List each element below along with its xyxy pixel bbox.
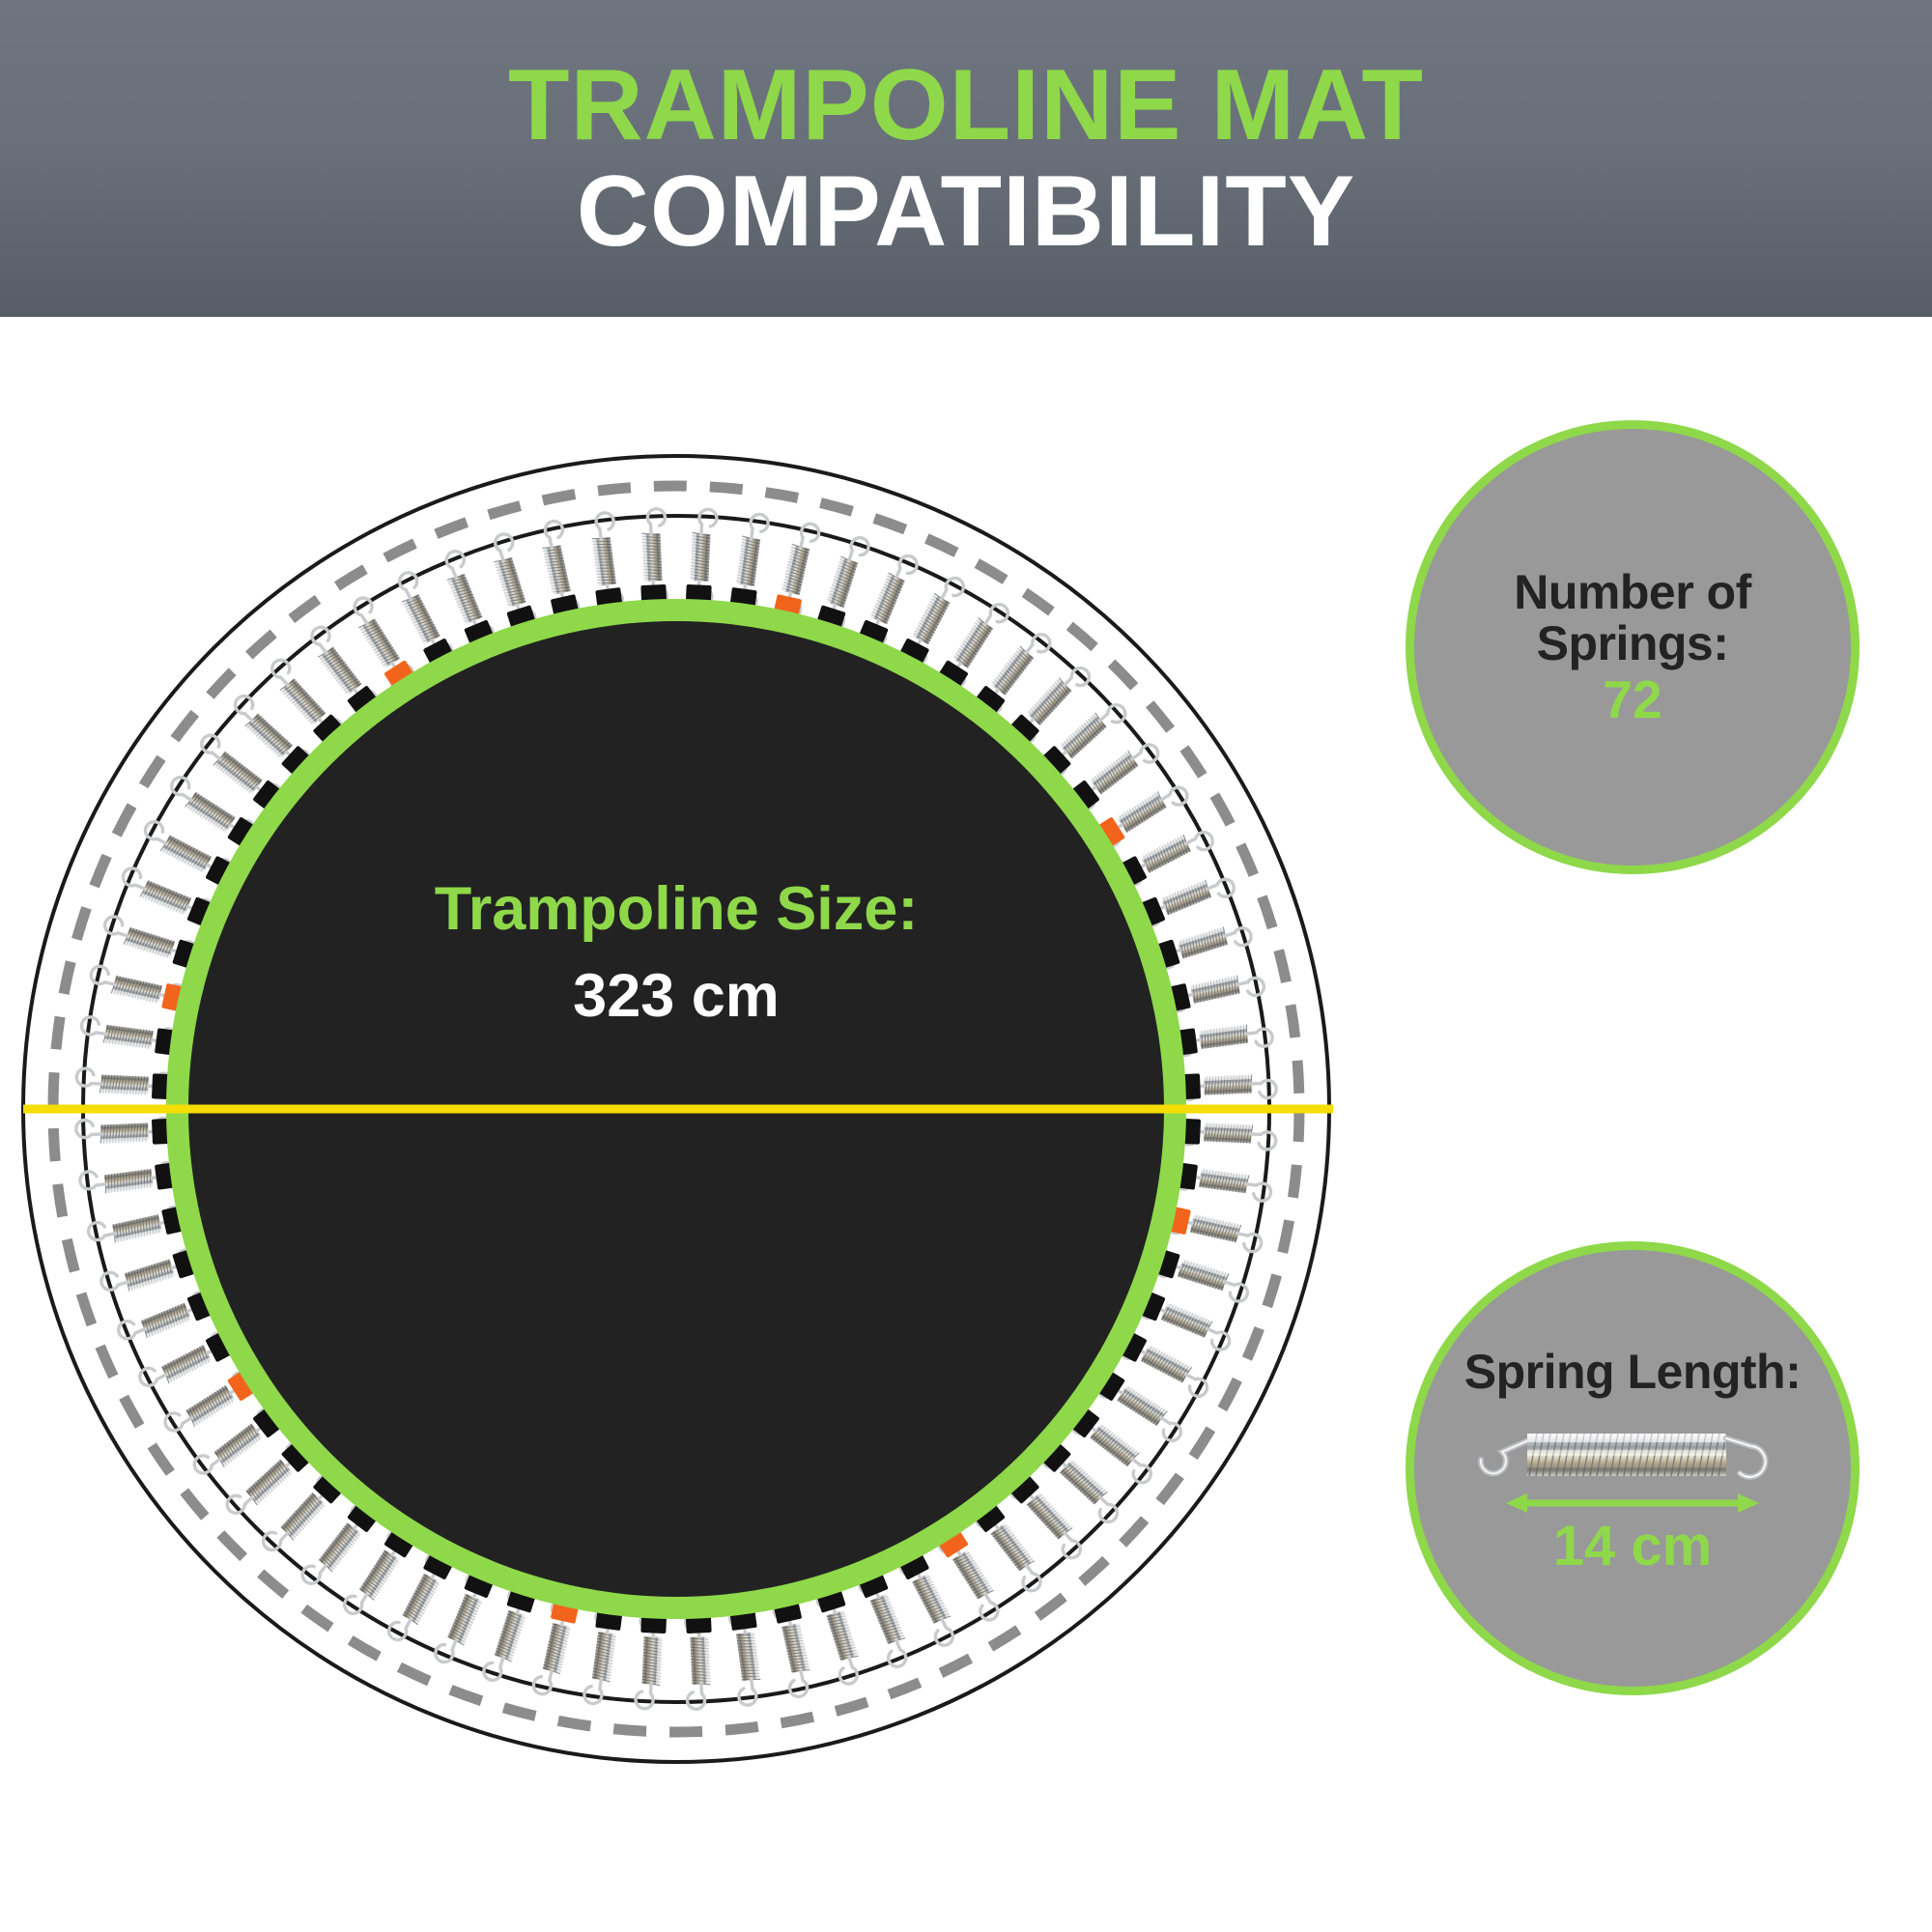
spring-hook-outer <box>1237 977 1265 999</box>
spring-coil-body <box>952 618 993 668</box>
spring-hook-outer <box>1251 1131 1276 1150</box>
mat-size-value: 323 cm <box>573 962 780 1030</box>
spring-photo-icon <box>1473 1417 1792 1492</box>
spring-hook-outer <box>1225 925 1254 950</box>
page-title-line1: TRAMPOLINE MAT <box>508 52 1424 158</box>
info-circle-number-of-springs: Number of Springs: 72 <box>1406 420 1860 874</box>
mat-size-label: Trampoline Size: <box>435 875 919 943</box>
spring-hook-outer <box>544 520 566 548</box>
spring-coil-body <box>213 1423 262 1466</box>
spring-hook-outer <box>493 532 517 561</box>
spring-hook-outer <box>786 1670 809 1698</box>
spring-hook-outer <box>647 508 666 533</box>
trampoline-svg: Trampoline Size: 323 cm <box>0 319 1372 1903</box>
page-title-line2: COMPATIBILITY <box>577 158 1355 265</box>
spring-coil-body <box>1117 1385 1167 1426</box>
spring-hook-outer <box>1245 1181 1272 1202</box>
spring-hook-outer <box>99 1268 128 1293</box>
spring-hook-outer <box>636 1684 654 1709</box>
spring-hook-outer <box>80 1016 107 1037</box>
spring-coil-body <box>319 646 362 695</box>
circle-title-springs-line1: Number of <box>1514 567 1751 619</box>
spring-hook-outer <box>482 1654 506 1683</box>
spring-hook-outer <box>836 1658 860 1687</box>
circle-value-springs: 72 <box>1603 672 1662 728</box>
spring-hook-outer <box>798 523 820 551</box>
spring-hook-outer <box>737 1680 757 1707</box>
info-circle-spring-length: Spring Length: <box>1406 1241 1860 1695</box>
spring-hook-outer <box>595 512 615 539</box>
spring-hook-outer <box>1251 1080 1276 1098</box>
spring-hook-outer <box>1236 1231 1264 1253</box>
spring-hook-outer <box>847 535 871 564</box>
circle-title-spring-length: Spring Length: <box>1464 1347 1802 1399</box>
spring-coil-body <box>1090 752 1138 795</box>
spring-hook-outer <box>1247 1028 1274 1048</box>
spring-hook-outer <box>698 509 717 534</box>
double-headed-arrow-icon <box>1506 1491 1759 1516</box>
spring-hook-outer <box>687 1684 705 1709</box>
spring-hook-outer <box>532 1668 554 1696</box>
spring-hook-outer <box>75 1120 100 1138</box>
spring-coil-body <box>185 792 236 833</box>
spring-hook-outer <box>102 915 131 939</box>
trampoline-diagram: Trampoline Size: 323 cm <box>0 319 1372 1903</box>
circle-value-spring-length: 14 cm <box>1553 1518 1712 1577</box>
spring-hook-outer <box>79 1170 106 1190</box>
spring-hook-outer <box>1221 1280 1250 1304</box>
spring-hook-outer <box>90 965 118 987</box>
spring-hook-outer <box>749 513 769 540</box>
spring-hook-outer <box>87 1219 115 1241</box>
spring-coil-body <box>990 1522 1034 1571</box>
header-banner: TRAMPOLINE MAT COMPATIBILITY <box>0 0 1932 317</box>
spring-coil-body <box>359 1549 400 1600</box>
spring-hook-outer <box>583 1678 604 1705</box>
spring-hook-outer <box>76 1068 101 1087</box>
circle-title-springs-line2: Springs: <box>1537 618 1729 670</box>
